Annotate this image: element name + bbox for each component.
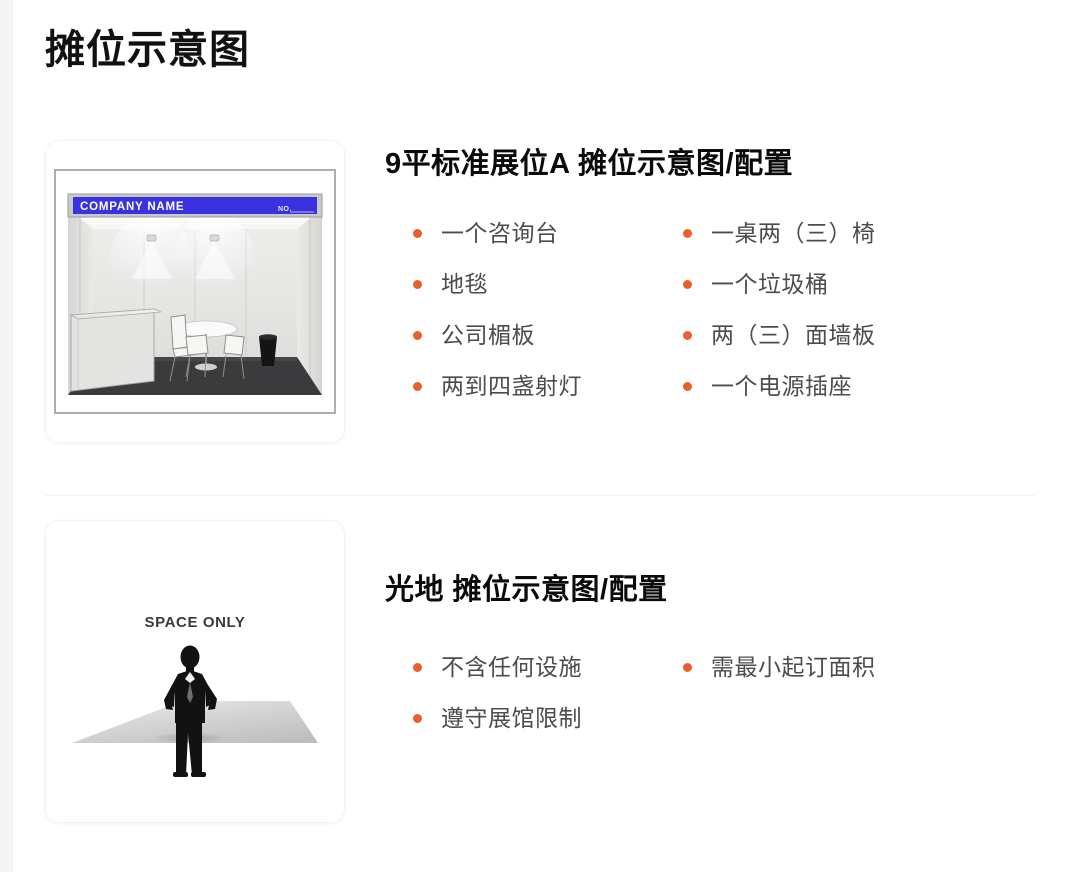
section-divider bbox=[45, 495, 1035, 496]
page-title: 摊位示意图 bbox=[45, 26, 250, 74]
feature-label: 两（三）面墙板 bbox=[711, 324, 876, 347]
bullet-dot-icon bbox=[413, 714, 422, 723]
feature-item: 一个垃圾桶 bbox=[683, 259, 1035, 310]
space-only-heading: 光地 摊位示意图/配置 bbox=[385, 572, 1035, 608]
bullet-dot-icon bbox=[413, 663, 422, 672]
booth-trash-bin bbox=[259, 334, 277, 366]
bullet-dot-icon bbox=[413, 331, 422, 340]
space-only-text-column: 光地 摊位示意图/配置 不含任何设施 需最小起订面积 遵守展馆限制 bbox=[345, 520, 1035, 744]
bullet-dot-icon bbox=[683, 229, 692, 238]
feature-item: 一个电源插座 bbox=[683, 361, 1035, 412]
standard-booth-text-column: 9平标准展位A 摊位示意图/配置 一个咨询台 一桌两（三）椅 地毯 一个垃圾桶 bbox=[345, 140, 1035, 412]
section-standard-booth: COMPANY NAME NO. bbox=[45, 140, 1035, 443]
left-edge-scroll-track[interactable] bbox=[0, 0, 13, 872]
feature-label: 地毯 bbox=[441, 273, 488, 296]
feature-label: 两到四盏射灯 bbox=[441, 375, 582, 398]
space-only-caption: SPACE ONLY bbox=[144, 614, 245, 631]
feature-item: 公司楣板 bbox=[413, 310, 683, 361]
bullet-dot-icon bbox=[413, 382, 422, 391]
feature-item: 不含任何设施 bbox=[413, 642, 683, 693]
feature-item: 地毯 bbox=[413, 259, 683, 310]
booth-info-counter bbox=[71, 309, 161, 391]
bullet-dot-icon bbox=[413, 229, 422, 238]
bullet-dot-icon bbox=[683, 331, 692, 340]
standard-booth-heading: 9平标准展位A 摊位示意图/配置 bbox=[385, 146, 1035, 182]
feature-label: 公司楣板 bbox=[441, 324, 535, 347]
bullet-dot-icon bbox=[683, 280, 692, 289]
section-space-only: SPACE ONLY bbox=[45, 520, 1035, 823]
feature-item: 遵守展馆限制 bbox=[413, 693, 683, 744]
feature-label: 不含任何设施 bbox=[441, 656, 582, 679]
standard-booth-illustration: COMPANY NAME NO. bbox=[54, 169, 336, 414]
feature-label: 一桌两（三）椅 bbox=[711, 222, 876, 245]
space-only-image-card[interactable]: SPACE ONLY bbox=[45, 520, 345, 823]
feature-item: 两到四盏射灯 bbox=[413, 361, 683, 412]
feature-item: 一个咨询台 bbox=[413, 208, 683, 259]
feature-label: 一个电源插座 bbox=[711, 375, 852, 398]
feature-label: 一个垃圾桶 bbox=[711, 273, 829, 296]
standard-booth-image-card[interactable]: COMPANY NAME NO. bbox=[45, 140, 345, 443]
booth-fascia-text: COMPANY NAME bbox=[80, 201, 184, 213]
bullet-dot-icon bbox=[683, 663, 692, 672]
space-only-illustration: SPACE ONLY bbox=[50, 527, 340, 817]
feature-label: 一个咨询台 bbox=[441, 222, 559, 245]
space-only-image-inner: SPACE ONLY bbox=[46, 521, 344, 822]
bullet-dot-icon bbox=[683, 382, 692, 391]
feature-label: 需最小起订面积 bbox=[711, 656, 876, 679]
standard-booth-feature-grid: 一个咨询台 一桌两（三）椅 地毯 一个垃圾桶 公司楣板 bbox=[385, 208, 1035, 412]
feature-item: 一桌两（三）椅 bbox=[683, 208, 1035, 259]
bullet-dot-icon bbox=[413, 280, 422, 289]
feature-item: 需最小起订面积 bbox=[683, 642, 1035, 693]
feature-item: 两（三）面墙板 bbox=[683, 310, 1035, 361]
booth-fascia-number-label: NO. bbox=[278, 206, 292, 213]
feature-label: 遵守展馆限制 bbox=[441, 707, 582, 730]
booth-diagram-page: 摊位示意图 bbox=[0, 0, 1080, 872]
standard-booth-image-inner: COMPANY NAME NO. bbox=[46, 141, 344, 442]
space-only-feature-grid: 不含任何设施 需最小起订面积 遵守展馆限制 bbox=[385, 642, 1035, 744]
